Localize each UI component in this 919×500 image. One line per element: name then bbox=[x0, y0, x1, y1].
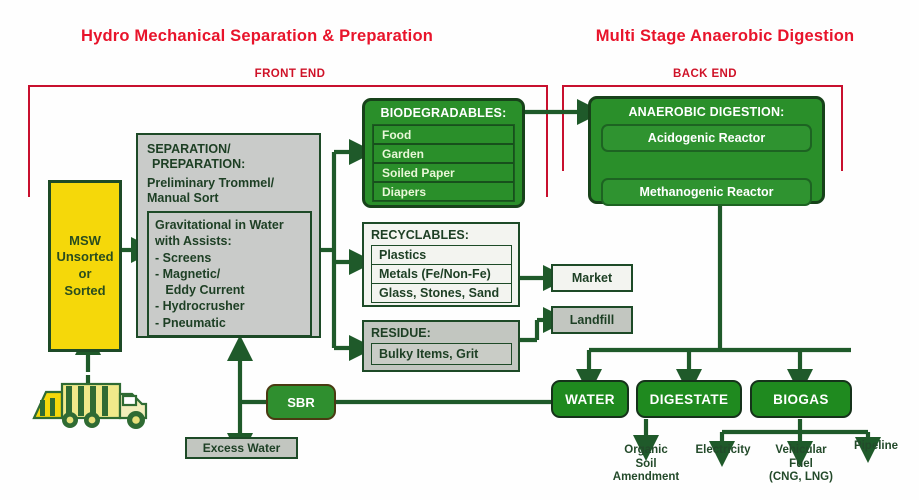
recyclables-panel[interactable]: RECYCLABLES: Plastics Metals (Fe/Non-Fe)… bbox=[362, 222, 520, 307]
biogas-use-vehicular-fuel: Vehicular Fuel (CNG, LNG) bbox=[762, 444, 840, 485]
separation-subtitle-line2: Manual Sort bbox=[147, 191, 312, 206]
biodegradables-list: Food Garden Soiled Paper Diapers bbox=[372, 124, 515, 202]
output-digestate-box[interactable]: DIGESTATE bbox=[636, 380, 742, 418]
excess-water-box[interactable]: Excess Water bbox=[185, 437, 298, 459]
residue-panel[interactable]: RESIDUE: Bulky Items, Grit bbox=[362, 320, 520, 372]
front-end-label: FRONT END bbox=[175, 68, 405, 80]
msw-line1: MSW bbox=[69, 233, 101, 250]
biodegradables-header: BIODEGRADABLES: bbox=[372, 106, 515, 120]
recyclables-list: Plastics Metals (Fe/Non-Fe) Glass, Stone… bbox=[371, 245, 512, 303]
biogas-use-vehicular-line2: Fuel bbox=[762, 458, 840, 472]
back-end-label: BACK END bbox=[590, 68, 820, 80]
msw-line4: Sorted bbox=[64, 283, 105, 300]
biodegradables-item-3[interactable]: Diapers bbox=[373, 182, 514, 201]
biogas-use-electricity-line1: Electricity bbox=[683, 444, 763, 458]
biodegradables-item-1[interactable]: Garden bbox=[373, 144, 514, 163]
biogas-use-vehicular-line3: (CNG, LNG) bbox=[762, 471, 840, 485]
recyclables-item-0[interactable]: Plastics bbox=[372, 246, 511, 265]
digestate-use-line2: Soil bbox=[596, 458, 696, 472]
biodegradables-item-0[interactable]: Food bbox=[373, 125, 514, 144]
assists-title-line2: with Assists: bbox=[155, 233, 305, 249]
biogas-use-pipeline: Pipeline bbox=[838, 440, 914, 454]
assists-item-0: - Screens bbox=[155, 250, 305, 266]
recyclables-item-2[interactable]: Glass, Stones, Sand bbox=[372, 284, 511, 302]
recyclables-header: RECYCLABLES: bbox=[371, 228, 512, 242]
acidogenic-reactor-box[interactable]: Acidogenic Reactor bbox=[601, 124, 812, 152]
separation-subtitle-line1: Preliminary Trommel/ bbox=[147, 176, 312, 191]
residue-item-0[interactable]: Bulky Items, Grit bbox=[371, 343, 512, 365]
msw-line2: Unsorted bbox=[56, 249, 113, 266]
assists-item-3: - Hydrocrusher bbox=[155, 298, 305, 314]
biodegradables-panel[interactable]: BIODEGRADABLES: Food Garden Soiled Paper… bbox=[362, 98, 525, 208]
separation-assists-panel: Gravitational in Water with Assists: - S… bbox=[147, 211, 312, 337]
separation-header-line2: PREPARATION: bbox=[147, 157, 312, 172]
msw-line3: or bbox=[79, 266, 92, 283]
output-water-box[interactable]: WATER bbox=[551, 380, 629, 418]
biogas-use-vehicular-line1: Vehicular bbox=[762, 444, 840, 458]
market-box[interactable]: Market bbox=[551, 264, 633, 292]
methanogenic-reactor-box[interactable]: Methanogenic Reactor bbox=[601, 178, 812, 206]
msw-box[interactable]: MSW Unsorted or Sorted bbox=[48, 180, 122, 352]
digestate-use-line3: Amendment bbox=[596, 471, 696, 485]
anaerobic-digestion-header: ANAEROBIC DIGESTION: bbox=[601, 105, 812, 119]
assists-item-2: Eddy Current bbox=[155, 282, 305, 298]
landfill-box[interactable]: Landfill bbox=[551, 306, 633, 334]
anaerobic-digestion-panel[interactable]: ANAEROBIC DIGESTION: Acidogenic Reactor … bbox=[588, 96, 825, 204]
assists-item-4: - Pneumatic bbox=[155, 315, 305, 331]
diagram-canvas: Hydro Mechanical Separation & Preparatio… bbox=[0, 0, 919, 500]
separation-preparation-box[interactable]: SEPARATION/ PREPARATION: Preliminary Tro… bbox=[136, 133, 321, 338]
residue-header: RESIDUE: bbox=[371, 326, 512, 340]
separation-header-line1: SEPARATION/ bbox=[147, 142, 312, 157]
biogas-use-electricity: Electricity bbox=[683, 444, 763, 458]
right-section-title: Multi Stage Anaerobic Digestion bbox=[550, 27, 900, 46]
output-biogas-box[interactable]: BIOGAS bbox=[750, 380, 852, 418]
digestate-use-label: Organic Soil Amendment bbox=[596, 444, 696, 485]
biodegradables-item-2[interactable]: Soiled Paper bbox=[373, 163, 514, 182]
sbr-box[interactable]: SBR bbox=[266, 384, 336, 420]
left-section-title: Hydro Mechanical Separation & Preparatio… bbox=[22, 27, 492, 46]
assists-item-1: - Magnetic/ bbox=[155, 266, 305, 282]
recyclables-item-1[interactable]: Metals (Fe/Non-Fe) bbox=[372, 265, 511, 284]
biogas-use-pipeline-line1: Pipeline bbox=[838, 440, 914, 454]
assists-title-line1: Gravitational in Water bbox=[155, 217, 305, 233]
garbage-truck-icon bbox=[28, 372, 156, 434]
digestate-use-line1: Organic bbox=[596, 444, 696, 458]
